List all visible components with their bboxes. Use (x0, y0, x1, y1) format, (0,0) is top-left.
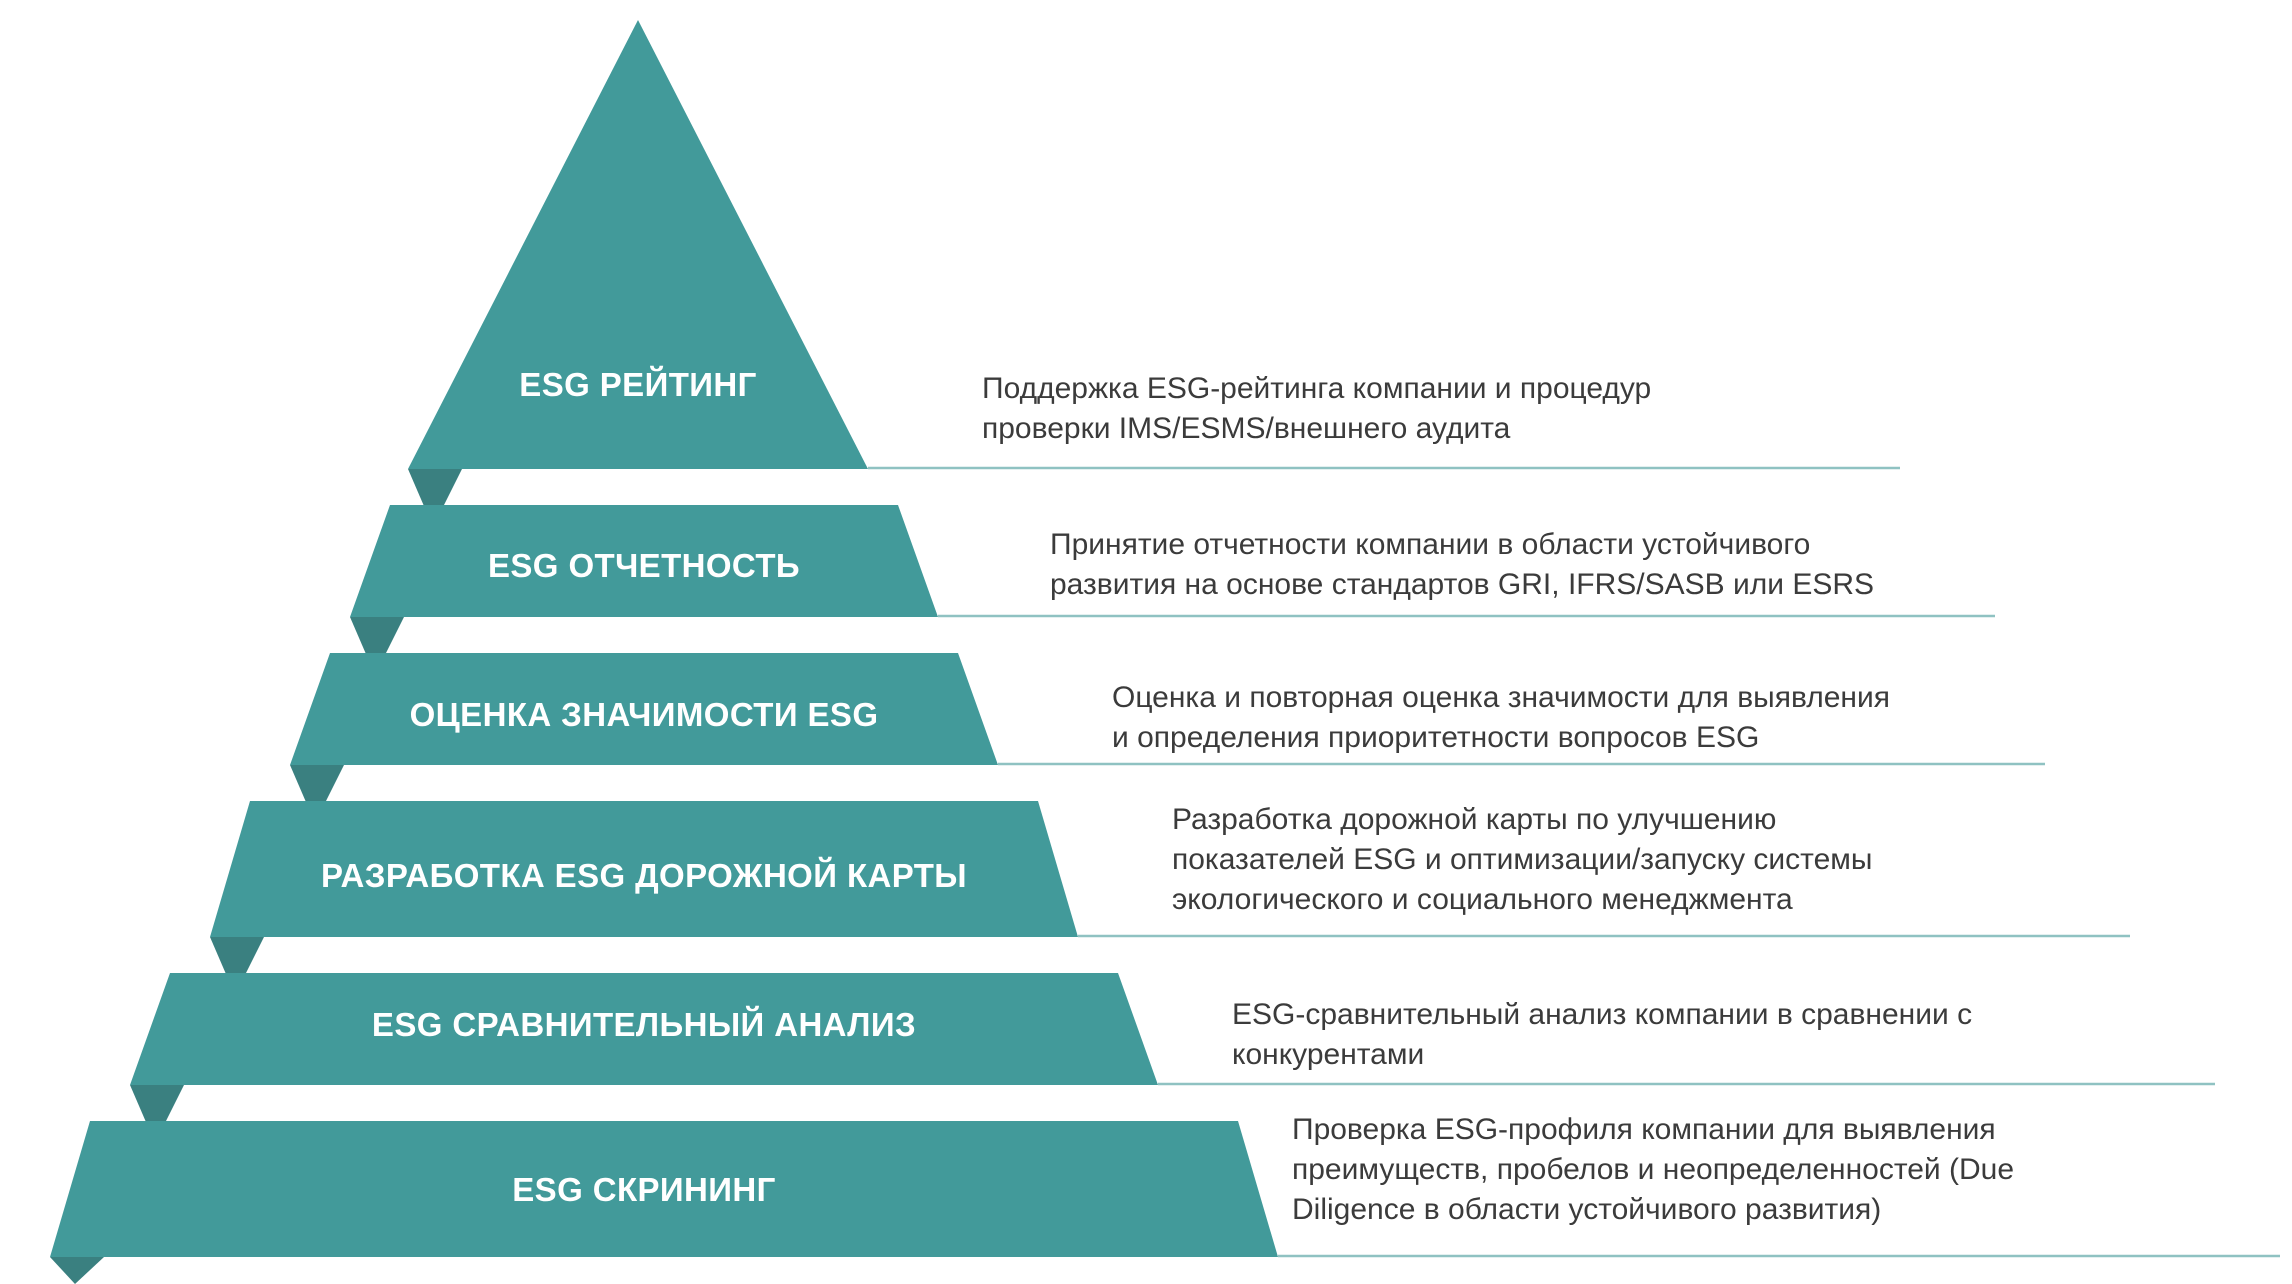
pyramid-tier-5-shape[interactable] (130, 973, 1158, 1085)
pyramid-tier-6-shape[interactable] (50, 1121, 1278, 1257)
pyramid-tier-6-description: Проверка ESG-профиля компании для выявле… (1292, 1110, 2014, 1230)
pyramid-tier-1-description: Поддержка ESG-рейтинга компании и процед… (982, 369, 1651, 449)
pyramid-tier-2-shape[interactable] (350, 505, 938, 617)
pyramid-tier-6-shadow-tab (50, 1257, 104, 1284)
pyramid-tier-3-shape[interactable] (290, 653, 998, 765)
pyramid-tier-3-description: Оценка и повторная оценка значимости для… (1112, 678, 1890, 758)
pyramid-tier-2-description: Принятие отчетности компании в области у… (1050, 525, 1874, 605)
pyramid-tier-4-description: Разработка дорожной карты по улучшению п… (1172, 800, 1872, 920)
pyramid-diagram: ESG РЕЙТИНГ ESG ОТЧЕТНОСТЬ ОЦЕНКА ЗНАЧИМ… (0, 0, 2292, 1284)
pyramid-tier-4-shape[interactable] (210, 801, 1078, 937)
pyramid-tier-1-shape[interactable] (408, 20, 868, 469)
pyramid-tier-5-description: ESG-сравнительный анализ компании в срав… (1232, 995, 1972, 1075)
pyramid-shapes (0, 0, 2292, 1284)
